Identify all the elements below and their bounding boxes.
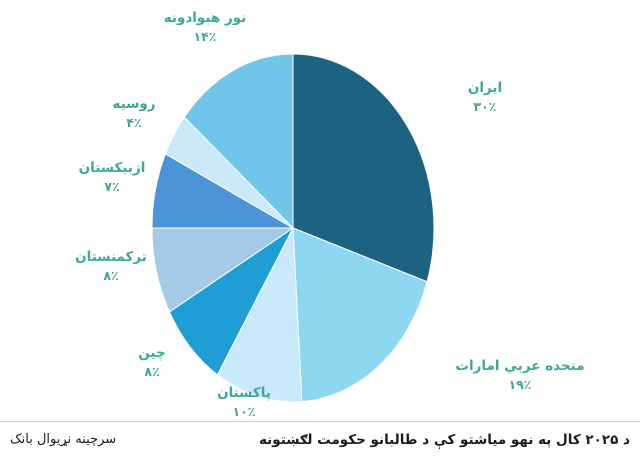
pie-label-china-value: ۸٪ (112, 364, 192, 380)
pie-chart-figure: نور هېوادونه ۱۴٪ روسیه ۴٪ ازبیکستان ۷٪ ت… (0, 0, 640, 457)
pie-slice-group (152, 54, 434, 402)
pie-label-pakistan-value: ۱۰٪ (196, 404, 292, 420)
pie-label-uae-name: متحده عربي امارات (430, 358, 610, 375)
pie-label-other-countries: نور هېوادونه ۱۴٪ (150, 10, 260, 45)
pie-label-russia: روسیه ۴٪ (88, 96, 180, 131)
pie-label-uzbekistan-name: ازبیکستان (52, 160, 172, 177)
pie-label-iran-name: ایران (440, 80, 530, 97)
footer-source: سرچینه نړیوال بانک (10, 432, 116, 447)
pie-label-uzbekistan-value: ۷٪ (52, 179, 172, 195)
footer-caption: د ۲۰۲۵ کال په نهو میاشتو کې د طالبانو حک… (259, 432, 630, 448)
pie-label-pakistan-name: پاکستان (196, 385, 292, 402)
pie-label-turkmenistan-value: ۸٪ (50, 268, 172, 284)
pie-label-turkmenistan-name: ترکمنستان (50, 249, 172, 266)
pie-label-uae-value: ۱۹٪ (430, 377, 610, 393)
pie-label-iran-value: ۳۰٪ (440, 99, 530, 115)
pie-label-russia-name: روسیه (88, 96, 180, 113)
pie-label-russia-value: ۴٪ (88, 115, 180, 131)
pie-label-other-countries-value: ۱۴٪ (150, 29, 260, 45)
footer-bar: د ۲۰۲۵ کال په نهو میاشتو کې د طالبانو حک… (0, 422, 640, 457)
pie-label-other-countries-name: نور هېوادونه (150, 10, 260, 27)
pie-label-pakistan: پاکستان ۱۰٪ (196, 385, 292, 420)
pie-label-china: چین ۸٪ (112, 345, 192, 380)
pie-label-china-name: چین (112, 345, 192, 362)
pie-label-iran: ایران ۳۰٪ (440, 80, 530, 115)
pie-label-uae: متحده عربي امارات ۱۹٪ (430, 358, 610, 393)
pie-label-uzbekistan: ازبیکستان ۷٪ (52, 160, 172, 195)
pie-label-turkmenistan: ترکمنستان ۸٪ (50, 249, 172, 284)
